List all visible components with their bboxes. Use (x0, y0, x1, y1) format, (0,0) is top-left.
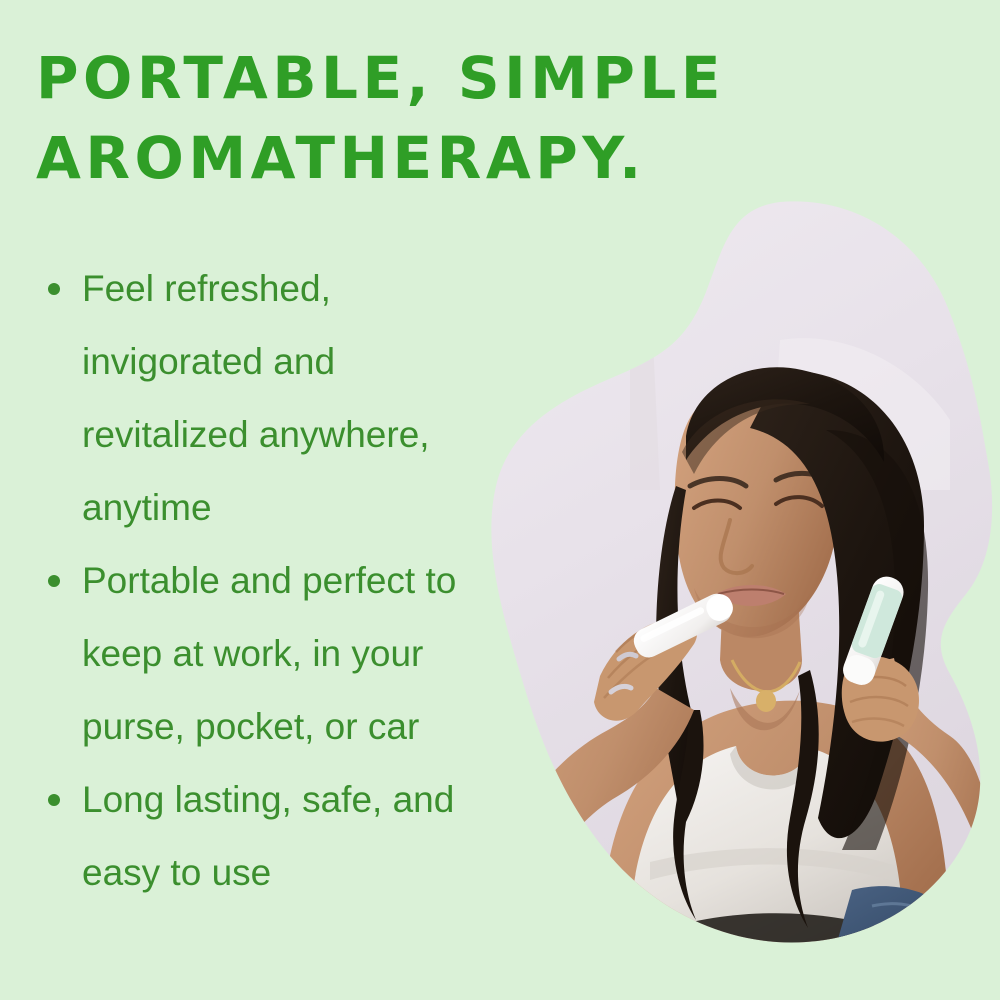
bullet-dot-icon (48, 575, 60, 587)
benefits-list: Feel refreshed, invigorated and revitali… (36, 252, 506, 909)
list-item-label: Feel refreshed, invigorated and revitali… (82, 268, 430, 528)
necklace-pendant (756, 690, 776, 712)
bullet-dot-icon (48, 794, 60, 806)
denim-jeans (832, 886, 966, 960)
list-item: Portable and perfect to keep at work, in… (36, 544, 506, 763)
list-item: Feel refreshed, invigorated and revitali… (36, 252, 506, 544)
promo-poster: Portable, simple aromatherapy. Feel refr… (0, 0, 1000, 1000)
list-item-label: Portable and perfect to keep at work, in… (82, 560, 456, 747)
photo-content (480, 190, 1000, 960)
list-item-label: Long lasting, safe, and easy to use (82, 779, 454, 893)
backdrop-seam (630, 190, 660, 490)
product-photo (480, 190, 1000, 960)
list-item: Long lasting, safe, and easy to use (36, 763, 506, 909)
page-title: Portable, simple aromatherapy. (36, 38, 756, 198)
bullet-dot-icon (48, 283, 60, 295)
product-photo-svg (480, 190, 1000, 960)
